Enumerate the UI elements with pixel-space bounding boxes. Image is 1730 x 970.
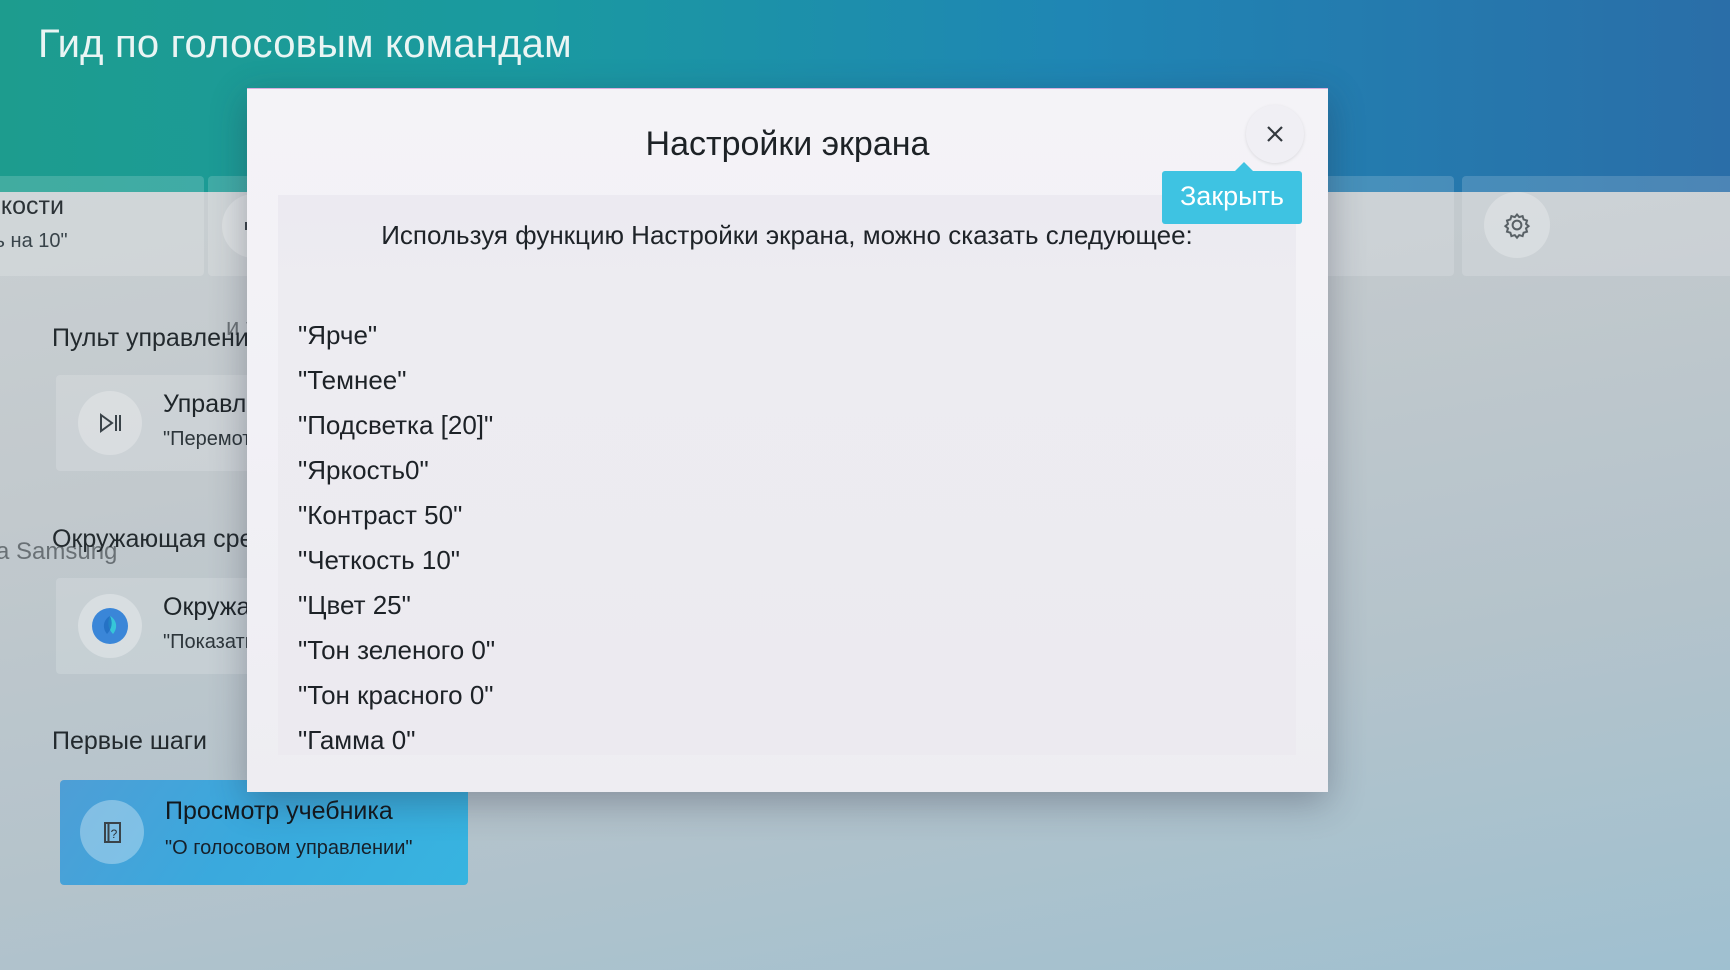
voice-command-item: "Ярче" [298, 313, 1258, 358]
list-item-tutorial[interactable]: ? Просмотр учебника "О голосовом управле… [60, 780, 468, 885]
card-volume[interactable]: ие громкости громкость на 10" [0, 176, 204, 276]
list-item-tutorial-subtitle: "О голосовом управлении" [165, 837, 412, 860]
voice-command-item: "Цвет 25" [298, 583, 1258, 628]
close-button[interactable] [1246, 105, 1304, 163]
list-item-ambient-subtitle: "Показать [163, 631, 255, 654]
list-item-playback-subtitle: "Перемот [163, 428, 251, 451]
section-title-first-steps: Первые шаги [52, 727, 207, 756]
dialog-content-panel: Используя функцию Настройки экрана, можн… [278, 195, 1296, 755]
voice-command-list: "Ярче""Темнее""Подсветка [20]""Яркость0"… [298, 313, 1258, 763]
close-icon [1260, 119, 1290, 149]
section-title-remote: Пульт управления [52, 324, 262, 353]
tutorial-book-icon: ? [80, 800, 144, 864]
card-volume-title: ие громкости [0, 192, 64, 221]
voice-command-item: "Гамма 0" [298, 718, 1258, 763]
close-tooltip: Закрыть [1162, 171, 1302, 224]
card-volume-subtitle: громкость на 10" [0, 230, 68, 253]
voice-command-item: "Яркость0" [298, 448, 1258, 493]
screen-settings-dialog: Настройки экрана Закрыть Используя функц… [247, 88, 1328, 792]
list-item-playback-title: Управле [163, 390, 260, 419]
dialog-title: Настройки экрана [247, 125, 1328, 164]
ambient-leaf-icon [78, 594, 142, 658]
voice-command-item: "Тон красного 0" [298, 673, 1258, 718]
list-item-ambient-title: Окружа [163, 593, 250, 622]
voice-command-item: "Темнее" [298, 358, 1258, 403]
list-item-tutorial-title: Просмотр учебника [165, 797, 393, 826]
svg-text:?: ? [111, 827, 118, 841]
tv-voice-guide-screen: Гид по голосовым командам ие громкости г… [0, 0, 1730, 970]
voice-command-item: "Контраст 50" [298, 493, 1258, 538]
voice-command-item: "Подсветка [20]" [298, 403, 1258, 448]
voice-command-item: "Тон зеленого 0" [298, 628, 1258, 673]
play-pause-icon [78, 391, 142, 455]
dialog-subtitle: Используя функцию Настройки экрана, можн… [278, 220, 1296, 251]
page-title: Гид по голосовым командам [38, 22, 572, 67]
card-remote-button[interactable] [1462, 176, 1730, 276]
voice-command-item: "Четкость 10" [298, 538, 1258, 583]
